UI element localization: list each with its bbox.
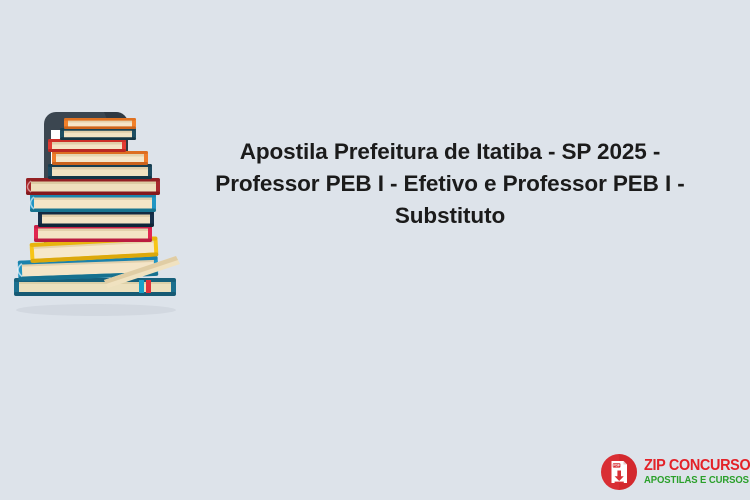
stack-of-books-with-tablet-illustration xyxy=(8,108,188,320)
logo-title: ZIP CONCURSOS xyxy=(644,458,750,474)
book-orange-top xyxy=(64,118,136,129)
ground-shadow xyxy=(16,304,176,316)
title-line-2: Professor PEB I - Efetivo e Professor PE… xyxy=(196,168,704,200)
title-line-1: Apostila Prefeitura de Itatiba - SP 2025… xyxy=(196,136,704,168)
product-title: Apostila Prefeitura de Itatiba - SP 2025… xyxy=(196,136,704,232)
bookmark-cyan xyxy=(139,280,144,293)
zip-concursos-logo[interactable]: PDF ZIP CONCURSOS APOSTILAS E CURSOS xyxy=(600,450,744,494)
book-blue-7 xyxy=(30,194,156,212)
svg-text:PDF: PDF xyxy=(613,464,620,468)
page-root: Apostila Prefeitura de Itatiba - SP 2025… xyxy=(0,0,750,500)
book-navy-8 xyxy=(38,211,154,227)
bookmark-red xyxy=(146,280,151,293)
book-red-3 xyxy=(48,139,126,152)
book-orange-4 xyxy=(52,151,148,165)
book-teal-base xyxy=(14,278,176,296)
logo-wordmark: ZIP CONCURSOS APOSTILAS E CURSOS xyxy=(644,458,750,487)
book-teal-2 xyxy=(60,128,136,140)
title-line-3: Substituto xyxy=(196,200,704,232)
logo-subtitle: APOSTILAS E CURSOS xyxy=(644,476,750,486)
book-darkred-6 xyxy=(26,178,160,195)
pdf-download-circle-icon: PDF xyxy=(600,453,638,491)
book-navy-5 xyxy=(48,164,152,179)
book-crimson-9 xyxy=(34,225,152,242)
